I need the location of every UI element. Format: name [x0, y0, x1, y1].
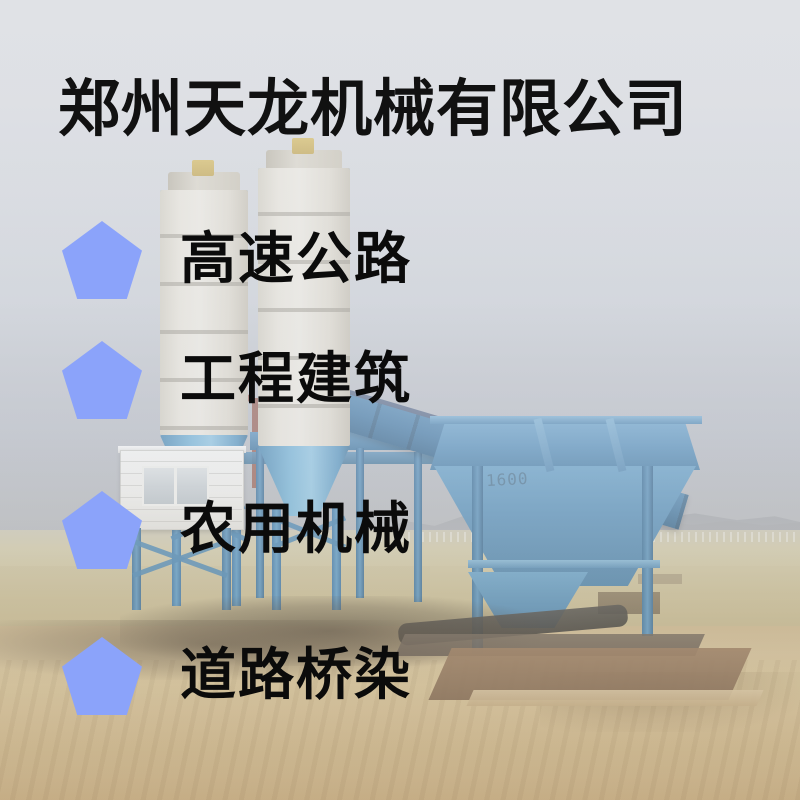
- page-title: 郑州天龙机械有限公司: [58, 78, 688, 140]
- feature-label-road-bridge: 道路桥染: [180, 648, 412, 704]
- feature-row[interactable]: 道路桥染: [0, 628, 800, 724]
- feature-row[interactable]: 农用机械: [0, 482, 800, 578]
- pentagon-bullet-icon: [62, 341, 142, 419]
- pentagon-bullet-icon: [62, 637, 142, 715]
- feature-label-agricultural-machinery: 农用机械: [180, 502, 412, 558]
- pentagon-shape: [62, 491, 142, 569]
- pentagon-shape: [62, 221, 142, 299]
- pentagon-bullet-icon: [62, 491, 142, 569]
- feature-row[interactable]: 工程建筑: [0, 332, 800, 428]
- feature-row[interactable]: 高速公路: [0, 212, 800, 308]
- pentagon-bullet-icon: [62, 221, 142, 299]
- feature-label-construction: 工程建筑: [180, 352, 412, 408]
- banner-content: 郑州天龙机械有限公司 高速公路 工程建筑 农用机械 道路桥染: [0, 0, 800, 800]
- promo-banner: 1600: [0, 0, 800, 800]
- pentagon-shape: [62, 341, 142, 419]
- pentagon-shape: [62, 637, 142, 715]
- feature-label-highway: 高速公路: [180, 232, 412, 288]
